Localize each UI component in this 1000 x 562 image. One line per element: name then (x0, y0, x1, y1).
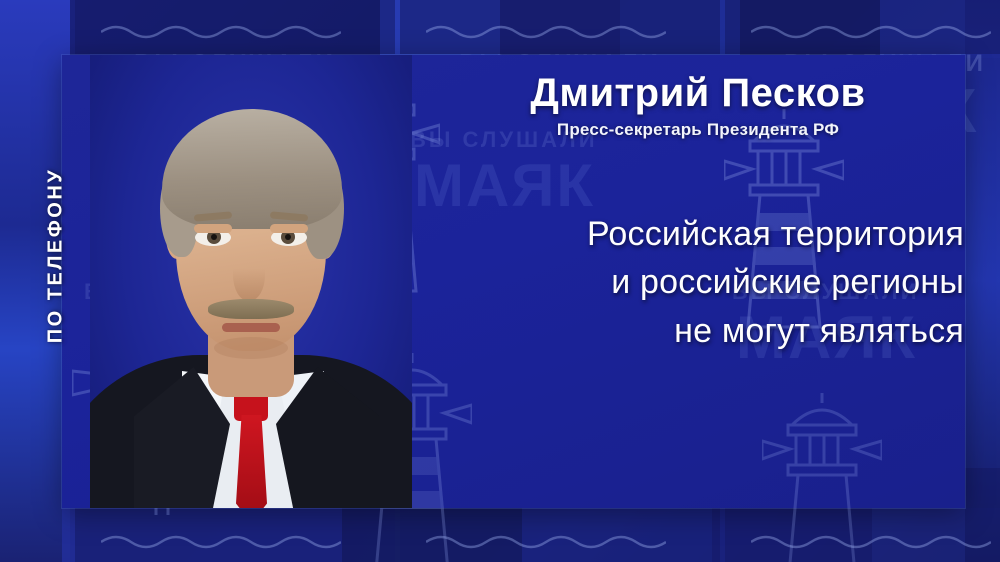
phone-source-label: ПО ТЕЛЕФОНУ (45, 140, 68, 372)
speaker-role: Пресс-секретарь Президента РФ (420, 120, 976, 140)
mouth (222, 323, 280, 332)
quote-line-1: Российская территория (344, 210, 964, 258)
pupil-left (211, 234, 217, 240)
chin (214, 337, 288, 359)
speaker-name-block: Дмитрий Песков Пресс-секретарь Президент… (420, 72, 976, 140)
eyelid-right (270, 224, 308, 233)
wave-icon (426, 530, 666, 552)
quote-line-2: и российские регионы (344, 258, 964, 306)
mustache (208, 299, 294, 319)
eyelid-left (194, 224, 232, 233)
quote-line-3: не могут являться (344, 307, 964, 355)
quote-block: Российская территория и российские регио… (344, 210, 964, 355)
phone-source-band: ПО ТЕЛЕФОНУ (34, 150, 78, 382)
wave-icon (101, 530, 341, 552)
pupil-right (285, 234, 291, 240)
wave-icon (426, 20, 666, 42)
speaker-name: Дмитрий Песков (420, 72, 976, 114)
wave-icon (751, 20, 991, 42)
nose (233, 247, 265, 301)
wave-icon (101, 20, 341, 42)
wave-icon (751, 530, 991, 552)
broadcast-lower-third-graphic: ВЫ СЛУШАЛИ МАЯК ВЫ СЛУШАЛИ МАЯК ВЫ СЛУША… (0, 0, 1000, 562)
